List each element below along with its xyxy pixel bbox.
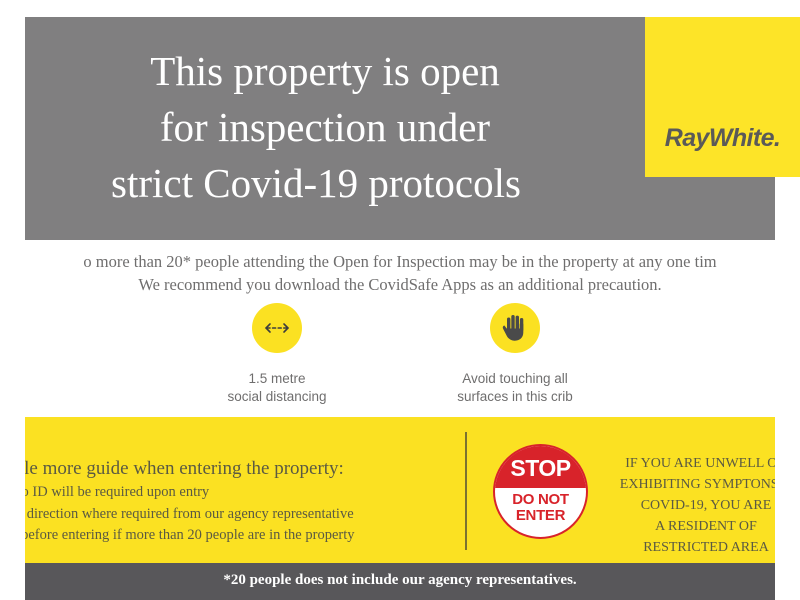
page-title: This property is open for inspection und… [25,43,625,211]
intro-paragraph: o more than 20* people attending the Ope… [0,250,800,297]
stop-do-not-enter-icon: STOP DO NOT ENTER [493,444,588,539]
entry-guide-title: little more guide when entering the prop… [25,458,503,480]
entry-guide-text: little more guide when entering the prop… [25,458,503,546]
do-not-enter-line-1: DO NOT [495,492,586,508]
caption-line-2: social distancing [177,388,377,406]
safety-caption-social-distancing: 1.5 metre social distancing [177,370,377,406]
caption-line-1: Avoid touching all [415,370,615,388]
do-not-enter-line-2: ENTER [495,508,586,524]
raywhite-logo-text: RayWhite. [645,124,800,153]
entry-guide-panel: little more guide when entering the prop… [25,417,775,563]
header-band: This property is open for inspection und… [25,17,775,240]
warning-line-2: EXHIBITING SYMPTONS O [601,474,775,495]
list-item: ait before entering if more than 20 peop… [25,525,503,546]
footer-note: *20 people does not include our agency r… [25,572,775,589]
do-not-enter-label: DO NOT ENTER [495,488,586,537]
caption-line-2: surfaces in this crib [415,388,615,406]
caption-line-1: 1.5 metre [177,370,377,388]
warning-line-5: RESTRICTED AREA [601,537,775,558]
entry-guide-list: hoto ID will be required upon entry ake … [25,482,503,546]
footer-band: *20 people does not include our agency r… [25,563,775,600]
safety-item-social-distancing: 1.5 metre social distancing [177,303,377,406]
unwell-warning-text: IF YOU ARE UNWELL OR EXHIBITING SYMPTONS… [601,453,775,558]
intro-line-1: o more than 20* people attending the Ope… [0,250,800,273]
open-hand-icon [490,303,540,353]
warning-line-3: COVID-19, YOU ARE [601,495,775,516]
list-item: hoto ID will be required upon entry [25,482,503,503]
headline-line-1: This property is open [25,43,625,99]
panel-divider [465,432,467,550]
list-item: ake direction where required from our ag… [25,504,503,525]
warning-line-1: IF YOU ARE UNWELL OR [601,453,775,474]
social-distance-arrow-icon [252,303,302,353]
headline-line-3: strict Covid-19 protocols [7,155,625,211]
headline-line-2: for inspection under [25,99,625,155]
safety-item-avoid-touching: Avoid touching all surfaces in this crib [415,303,615,406]
intro-line-2: We recommend you download the CovidSafe … [0,273,800,296]
raywhite-logo: RayWhite. [645,17,800,177]
safety-caption-avoid-touching: Avoid touching all surfaces in this crib [415,370,615,406]
stop-label: STOP [495,446,586,488]
warning-line-4: A RESIDENT OF [601,516,775,537]
safety-icon-row: 1.5 metre social distancing Avoid touchi [0,303,800,408]
covid-safety-poster: This property is open for inspection und… [0,0,800,600]
